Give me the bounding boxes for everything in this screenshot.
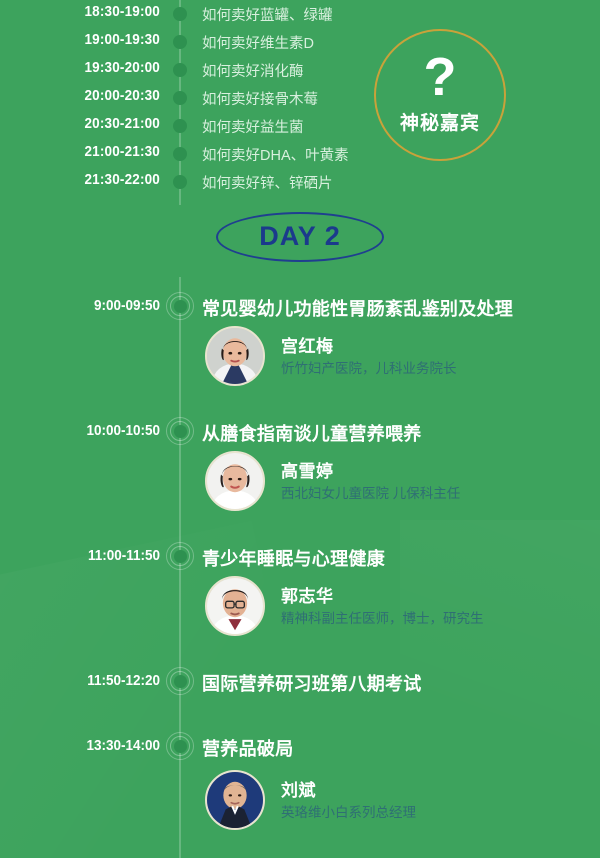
top-schedule-title: 如何卖好维生素D <box>202 32 314 53</box>
top-schedule-title: 如何卖好接骨木莓 <box>202 88 318 109</box>
timeline-node-icon <box>166 667 194 695</box>
session-time: 11:50-12:20 <box>21 673 161 689</box>
top-schedule-row[interactable]: 19:00-19:30 如何卖好维生素D <box>0 28 600 56</box>
background-decoration-secondary <box>400 520 600 820</box>
timeline-dot-icon <box>173 147 187 161</box>
top-schedule-row[interactable]: 21:00-21:30 如何卖好DHA、叶黄素 <box>0 140 600 168</box>
mystery-guest-label: 神秘嘉宾 <box>400 108 480 135</box>
session-title: 从膳食指南谈儿童营养喂养 <box>202 420 422 446</box>
top-schedule-time: 18:30-19:00 <box>30 4 160 20</box>
session-time: 10:00-10:50 <box>21 423 161 439</box>
timeline-dot-icon <box>173 7 187 21</box>
schedule-poster: 18:30-19:00 如何卖好蓝罐、绿罐 19:00-19:30 如何卖好维生… <box>0 0 600 858</box>
top-schedule-title: 如何卖好益生菌 <box>202 116 304 137</box>
speaker-name: 刘斌 <box>281 776 316 801</box>
timeline-dot-icon <box>173 91 187 105</box>
session-time: 9:00-09:50 <box>21 298 161 314</box>
top-schedule-row[interactable]: 21:30-22:00 如何卖好锌、锌硒片 <box>0 168 600 196</box>
top-schedule-row[interactable]: 19:30-20:00 如何卖好消化酶 <box>0 56 600 84</box>
timeline-dot-icon <box>173 119 187 133</box>
speaker-affiliation: 西北妇女儿童医院 儿保科主任 <box>281 482 460 502</box>
top-schedule-time: 19:00-19:30 <box>30 32 160 48</box>
speaker-name: 郭志华 <box>281 582 334 607</box>
top-schedule-time: 21:30-22:00 <box>30 172 160 188</box>
session-title: 常见婴幼儿功能性胃肠紊乱鉴别及处理 <box>202 295 513 321</box>
question-mark-icon: ? <box>424 53 457 103</box>
speaker-affiliation: 英珞维小白系列总经理 <box>281 801 416 821</box>
top-schedule-time: 21:00-21:30 <box>30 144 160 160</box>
top-schedule-time: 20:00-20:30 <box>30 88 160 104</box>
top-schedule-title: 如何卖好消化酶 <box>202 60 304 81</box>
timeline-node-icon <box>166 417 194 445</box>
top-schedule-title: 如何卖好DHA、叶黄素 <box>202 144 349 165</box>
session-title: 青少年睡眠与心理健康 <box>202 545 385 571</box>
timeline-dot-icon <box>173 175 187 189</box>
top-schedule-row[interactable]: 20:30-21:00 如何卖好益生菌 <box>0 112 600 140</box>
speaker-name: 宫红梅 <box>281 332 334 357</box>
speaker-name: 高雪婷 <box>281 457 334 482</box>
timeline-node-icon <box>166 732 194 760</box>
avatar <box>205 576 265 636</box>
avatar <box>205 451 265 511</box>
avatar <box>205 326 265 386</box>
top-schedule-title: 如何卖好锌、锌硒片 <box>202 172 333 193</box>
timeline-node-icon <box>166 292 194 320</box>
top-schedule-title: 如何卖好蓝罐、绿罐 <box>202 4 333 25</box>
top-schedule-time: 19:30-20:00 <box>30 60 160 76</box>
mystery-guest-badge[interactable]: ? 神秘嘉宾 <box>374 29 506 161</box>
top-schedule-row[interactable]: 20:00-20:30 如何卖好接骨木莓 <box>0 84 600 112</box>
timeline-dot-icon <box>173 63 187 77</box>
timeline-node-icon <box>166 542 194 570</box>
session-title: 国际营养研习班第八期考试 <box>202 670 422 696</box>
day-2-label: DAY 2 <box>259 221 341 252</box>
top-schedule-time: 20:30-21:00 <box>30 116 160 132</box>
session-time: 13:30-14:00 <box>21 738 161 754</box>
timeline-dot-icon <box>173 35 187 49</box>
avatar <box>205 770 265 830</box>
speaker-affiliation: 精神科副主任医师，博士，研究生 <box>281 607 484 627</box>
day-2-badge[interactable]: DAY 2 <box>216 212 384 262</box>
session-time: 11:00-11:50 <box>21 548 161 564</box>
session-title: 营养品破局 <box>202 735 294 761</box>
timeline-spine-gap <box>176 205 184 277</box>
speaker-affiliation: 忻竹妇产医院，儿科业务院长 <box>281 357 457 377</box>
top-schedule-row[interactable]: 18:30-19:00 如何卖好蓝罐、绿罐 <box>0 0 600 28</box>
